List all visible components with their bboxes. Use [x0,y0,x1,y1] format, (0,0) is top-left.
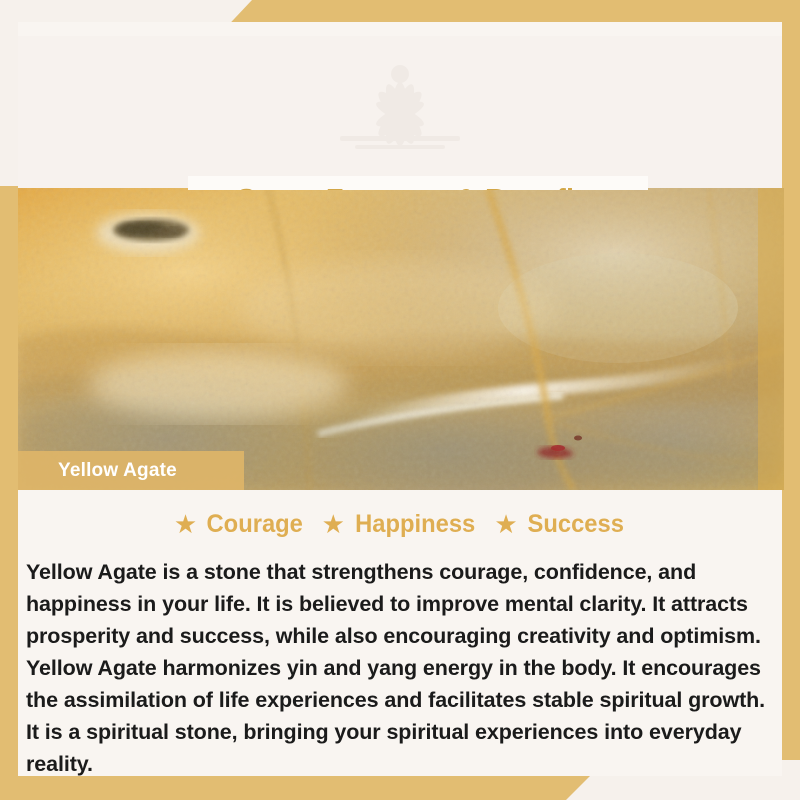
stone-caption-label: Yellow Agate [18,460,177,482]
header-section: Stone Features & Benefits [18,36,782,190]
stone-caption-badge: Yellow Agate [18,451,244,490]
description-text: Yellow Agate is a stone that strengthens… [26,556,766,780]
benefit-item-courage: ★ Courage [174,510,306,539]
page-title: Stone Features & Benefits [236,182,600,190]
description-section: Yellow Agate is a stone that strengthens… [26,556,766,780]
benefits-row: ★ Courage ★ Happiness ★ Success [18,510,782,539]
star-icon: ★ [322,511,345,537]
lotus-watermark-icon [295,44,505,154]
benefit-label: Courage [207,510,303,539]
yellow-agate-slab-photo [18,188,784,490]
title-plate: Stone Features & Benefits [188,176,648,190]
benefit-label: Happiness [355,510,475,539]
star-icon: ★ [174,511,197,537]
benefit-label: Success [527,510,623,539]
star-icon: ★ [494,511,517,537]
benefit-item-happiness: ★ Happiness [322,510,479,539]
benefit-item-success: ★ Success [494,510,626,539]
